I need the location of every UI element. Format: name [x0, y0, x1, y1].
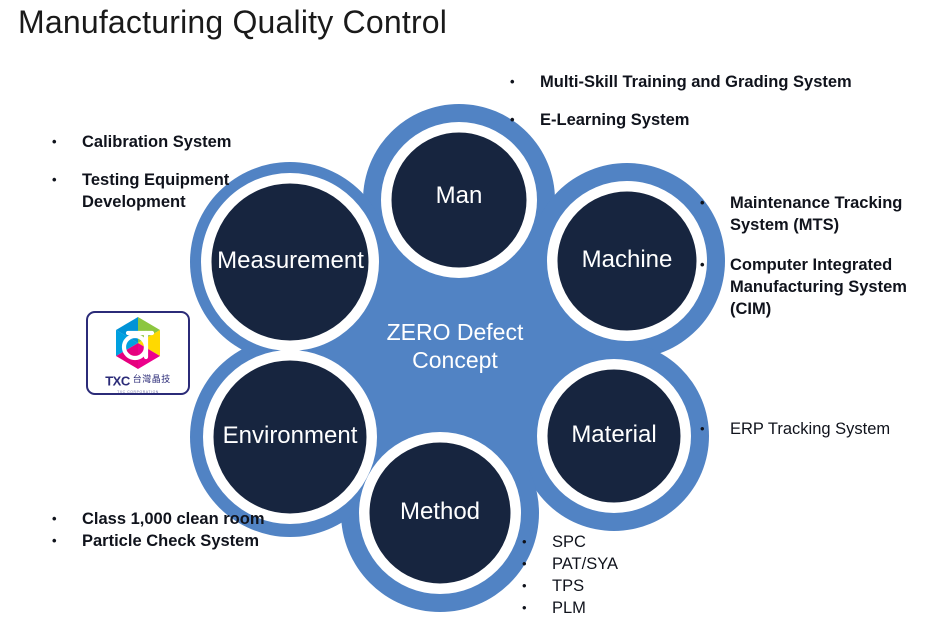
- center-label-line1: ZERO Defect: [330, 318, 580, 346]
- bullet-item: SPC: [512, 531, 732, 553]
- bullets-environment: Class 1,000 clean room Particle Check Sy…: [42, 508, 342, 552]
- node-label-method[interactable]: Method: [370, 498, 510, 526]
- bullet-item: Particle Check System: [42, 530, 342, 552]
- bullet-item: Maintenance Tracking System (MTS): [690, 192, 915, 236]
- txc-hexagon-icon: [108, 316, 168, 370]
- node-label-man[interactable]: Man: [399, 182, 519, 210]
- node-label-machine[interactable]: Machine: [552, 246, 702, 274]
- page-title: Manufacturing Quality Control: [18, 4, 447, 41]
- bullet-item: Class 1,000 clean room: [42, 508, 342, 530]
- bullets-method: SPC PAT/SYA TPS PLM: [512, 531, 732, 619]
- txc-wordmark-cn: 台灣晶技: [133, 375, 171, 385]
- bullet-item: PAT/SYA: [512, 553, 732, 575]
- center-label: ZERO Defect Concept: [330, 318, 580, 374]
- bullets-material: ERP Tracking System: [690, 418, 930, 440]
- txc-subtext: TXC CORPORATION: [88, 390, 188, 394]
- bullet-item: Computer Integrated Manufacturing System…: [690, 254, 915, 320]
- txc-wordmark: TXC台灣晶技: [88, 373, 188, 389]
- center-label-line2: Concept: [330, 346, 580, 374]
- bullet-item: PLM: [512, 597, 732, 619]
- bullet-item: E-Learning System: [500, 109, 880, 131]
- bullets-measurement: Calibration System Testing Equipment Dev…: [42, 131, 322, 229]
- bullet-item: Testing Equipment Development: [42, 169, 322, 213]
- bullet-item: Multi-Skill Training and Grading System: [500, 71, 880, 93]
- node-label-measurement[interactable]: Measurement: [203, 247, 378, 275]
- slide-canvas: Manufacturing Quality Control: [0, 0, 931, 632]
- bullets-machine: Maintenance Tracking System (MTS) Comput…: [690, 192, 915, 338]
- bullet-item: TPS: [512, 575, 732, 597]
- txc-logo: TXC台灣晶技 TXC CORPORATION: [86, 311, 190, 395]
- node-label-environment[interactable]: Environment: [205, 422, 375, 450]
- bullet-item: ERP Tracking System: [690, 418, 930, 440]
- node-label-material[interactable]: Material: [544, 421, 684, 449]
- txc-wordmark-latin: TXC: [105, 373, 130, 388]
- bullet-item: Calibration System: [42, 131, 322, 153]
- bullets-man: Multi-Skill Training and Grading System …: [500, 71, 880, 147]
